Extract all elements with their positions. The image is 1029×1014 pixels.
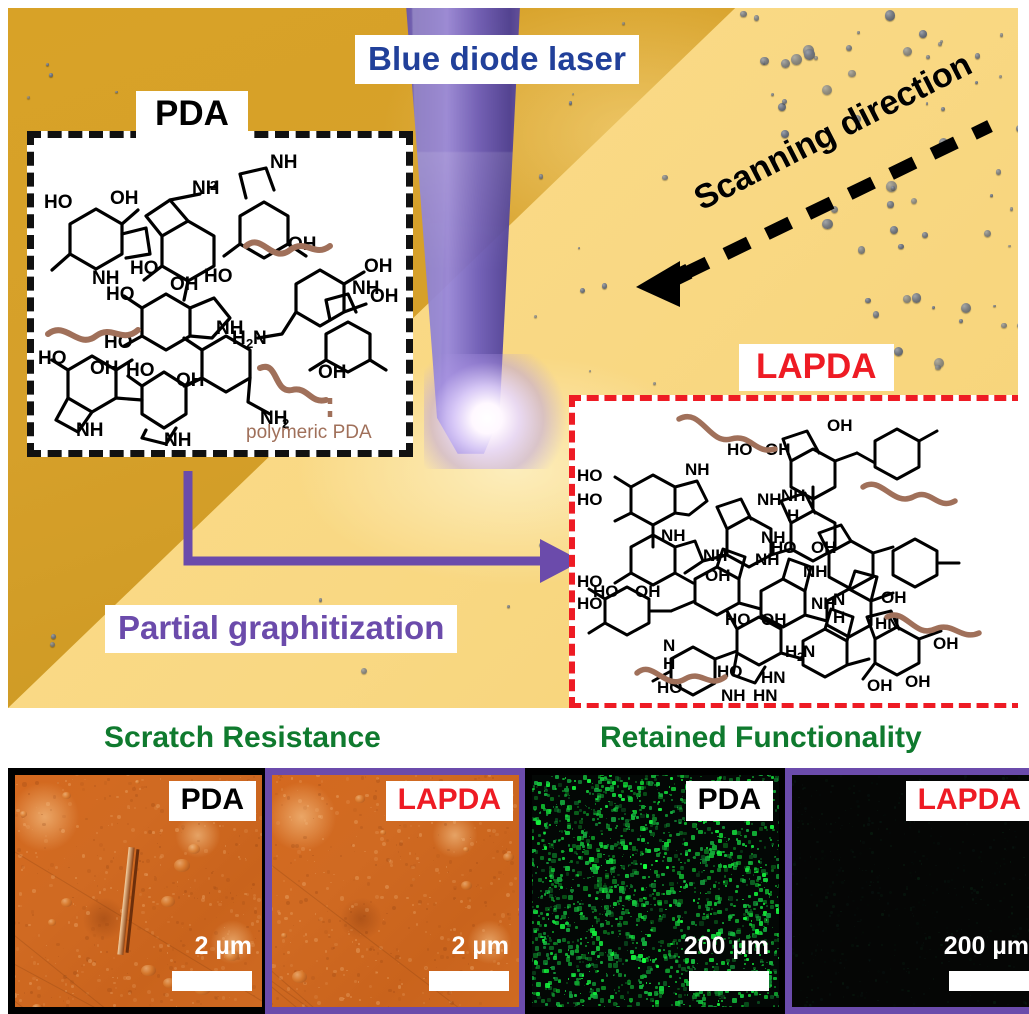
svg-text:N: N bbox=[803, 642, 815, 661]
scale-text: 2 µm bbox=[195, 932, 252, 961]
section-title-retained-functionality: Retained Functionality bbox=[600, 721, 922, 755]
svg-text:NH: NH bbox=[703, 546, 728, 565]
svg-text:NH: NH bbox=[76, 420, 103, 441]
panel-label-lapda: LAPDA bbox=[906, 781, 1029, 821]
svg-text:NH: NH bbox=[781, 486, 806, 505]
svg-text:OH: OH bbox=[827, 416, 853, 435]
svg-text:HO: HO bbox=[44, 192, 73, 213]
svg-text:NH: NH bbox=[685, 460, 710, 479]
panel-label-lapda: LAPDA bbox=[386, 781, 513, 821]
svg-text:HN: HN bbox=[761, 668, 786, 687]
partial-graphitization-arrow-icon bbox=[168, 463, 588, 603]
pda-structure-box: HOOH NH NH2 HOOH HO NH OH HOHO NH OHOH H… bbox=[27, 131, 413, 457]
svg-text:OH: OH bbox=[933, 634, 959, 653]
svg-text:H: H bbox=[785, 642, 797, 661]
laser-writing-illustration: Scanning direction bbox=[8, 8, 1018, 708]
bottom-results-section: Scratch Resistance Retained Functionalit… bbox=[0, 708, 1029, 1004]
svg-text:NH: NH bbox=[661, 526, 686, 545]
svg-text:OH: OH bbox=[90, 358, 119, 379]
svg-text:HO: HO bbox=[38, 348, 67, 369]
panel-label-pda: PDA bbox=[686, 781, 773, 821]
svg-text:OH: OH bbox=[867, 676, 893, 695]
svg-text:OH: OH bbox=[176, 370, 205, 391]
svg-text:N: N bbox=[833, 590, 845, 609]
svg-text:HO: HO bbox=[106, 284, 135, 305]
svg-text:NH: NH bbox=[270, 152, 297, 173]
section-title-scratch-resistance: Scratch Resistance bbox=[104, 721, 381, 755]
svg-text:OH: OH bbox=[170, 274, 199, 295]
svg-text:N: N bbox=[663, 636, 675, 655]
svg-text:H: H bbox=[232, 328, 246, 349]
svg-text:OH: OH bbox=[110, 188, 139, 209]
svg-text:NH: NH bbox=[721, 686, 746, 703]
svg-text:OH: OH bbox=[705, 566, 731, 585]
scale-text: 200 µm bbox=[684, 932, 769, 961]
scale-bar bbox=[949, 971, 1029, 991]
graphical-abstract-figure: Scanning direction bbox=[0, 0, 1029, 1004]
afm-panel-lapda: LAPDA 2 µm bbox=[265, 768, 526, 1014]
svg-text:NH: NH bbox=[352, 278, 379, 299]
svg-text:OH: OH bbox=[635, 582, 661, 601]
svg-text:NH: NH bbox=[164, 430, 191, 450]
pda-chemical-structures: HOOH NH NH2 HOOH HO NH OH HOHO NH OHOH H… bbox=[34, 138, 406, 450]
svg-text:HO: HO bbox=[577, 466, 603, 485]
fluorescence-panel-lapda: LAPDA 200 µm bbox=[785, 768, 1029, 1014]
svg-text:2: 2 bbox=[210, 178, 217, 193]
scale-bar bbox=[429, 971, 509, 991]
scale-text: 2 µm bbox=[452, 932, 509, 961]
scale-bar bbox=[172, 971, 252, 991]
svg-text:NH: NH bbox=[803, 562, 828, 581]
svg-text:OH: OH bbox=[761, 610, 787, 629]
svg-text:HN: HN bbox=[753, 686, 778, 703]
svg-text:NH: NH bbox=[757, 490, 782, 509]
svg-text:N: N bbox=[253, 328, 267, 349]
svg-text:HO: HO bbox=[725, 610, 751, 629]
lapda-structure-box: HOHO NH NH HOOH OH HOOH NHNH H NH OH HOO… bbox=[569, 395, 1018, 708]
svg-text:OH: OH bbox=[811, 538, 837, 557]
svg-text:HO: HO bbox=[577, 572, 603, 591]
svg-text:HO: HO bbox=[130, 258, 159, 279]
polymeric-pda-caption: polymeric PDA bbox=[246, 422, 372, 443]
fluorescence-panel-pda: PDA 200 µm bbox=[525, 768, 786, 1014]
svg-text:OH: OH bbox=[905, 672, 931, 691]
partial-graphitization-label: Partial graphitization bbox=[105, 605, 457, 653]
svg-text:HO: HO bbox=[126, 360, 155, 381]
svg-text:OH: OH bbox=[364, 256, 393, 277]
svg-text:OH: OH bbox=[881, 588, 907, 607]
lapda-chemical-structures: HOHO NH NH HOOH OH HOOH NHNH H NH OH HOO… bbox=[575, 401, 1018, 703]
laser-cone-band bbox=[398, 152, 528, 272]
svg-text:H: H bbox=[833, 608, 845, 627]
lapda-title-label: LAPDA bbox=[739, 344, 894, 391]
pda-title-label: PDA bbox=[136, 91, 248, 138]
scale-text: 200 µm bbox=[944, 932, 1029, 961]
scale-bar bbox=[689, 971, 769, 991]
svg-text:H: H bbox=[663, 654, 675, 673]
svg-text:OH: OH bbox=[318, 362, 347, 383]
panel-label-pda: PDA bbox=[169, 781, 256, 821]
svg-text:NH: NH bbox=[811, 594, 836, 613]
afm-panel-pda: PDA 2 µm bbox=[8, 768, 269, 1014]
svg-text:H: H bbox=[787, 506, 799, 525]
svg-text:NH: NH bbox=[755, 550, 780, 569]
svg-text:HO: HO bbox=[204, 266, 233, 287]
laser-focal-spot bbox=[424, 354, 574, 469]
blue-diode-laser-label: Blue diode laser bbox=[355, 35, 639, 84]
svg-text:HO: HO bbox=[577, 594, 603, 613]
svg-text:HO: HO bbox=[577, 490, 603, 509]
